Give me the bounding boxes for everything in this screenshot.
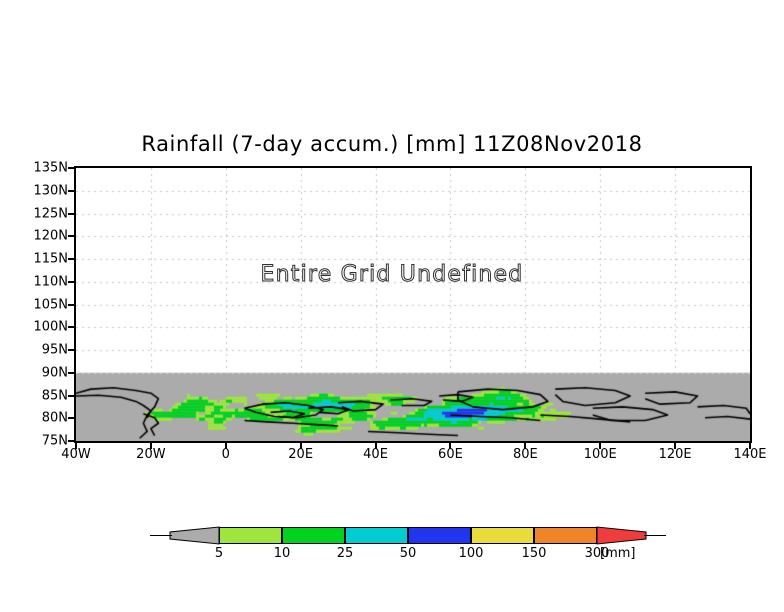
- x-tick-label: 20E: [288, 447, 313, 462]
- x-tickmark: [749, 443, 751, 449]
- y-tick-label: 95N: [42, 343, 68, 358]
- x-tickmark: [75, 443, 77, 449]
- y-tick-label: 125N: [33, 206, 68, 221]
- y-tick-label: 135N: [33, 161, 68, 176]
- y-tickmark: [68, 440, 74, 442]
- y-tick-label: 115N: [33, 252, 68, 267]
- x-tick-label: 20W: [136, 447, 165, 462]
- colorbar-segment: [219, 527, 282, 544]
- x-tickmark: [449, 443, 451, 449]
- x-tick-label: 80E: [513, 447, 538, 462]
- y-tickmark: [68, 417, 74, 419]
- colorbar-tick-label: 150: [522, 546, 547, 561]
- y-tickmark: [68, 167, 74, 169]
- x-tick-label: 60E: [438, 447, 463, 462]
- x-tickmark: [674, 443, 676, 449]
- x-tickmark: [375, 443, 377, 449]
- y-tickmark: [68, 349, 74, 351]
- rainfall-map-canvas: [76, 168, 750, 441]
- y-tick-label: 90N: [42, 365, 68, 380]
- x-tick-label: 100E: [584, 447, 617, 462]
- colorbar-tick-label: 50: [400, 546, 417, 561]
- y-axis-labels: 75N80N85N90N95N100N105N110N115N120N125N1…: [0, 0, 68, 612]
- plot-area: [74, 166, 752, 443]
- y-tick-label: 80N: [42, 411, 68, 426]
- x-tick-label: 40W: [61, 447, 90, 462]
- colorbar-tick-label: 300: [585, 546, 610, 561]
- y-tick-label: 130N: [33, 183, 68, 198]
- x-tickmark: [150, 443, 152, 449]
- chart-page: Rainfall (7-day accum.) [mm] 11Z08Nov201…: [0, 0, 784, 612]
- x-tick-label: 140E: [733, 447, 766, 462]
- y-tickmark: [68, 326, 74, 328]
- colorbar-unit-label: [mm]: [600, 546, 635, 561]
- chart-title: Rainfall (7-day accum.) [mm] 11Z08Nov201…: [0, 132, 784, 156]
- y-tick-label: 85N: [42, 388, 68, 403]
- x-tick-label: 40E: [363, 447, 388, 462]
- x-tickmark: [300, 443, 302, 449]
- x-tick-label: 120E: [659, 447, 692, 462]
- y-tick-label: 100N: [33, 320, 68, 335]
- y-tickmark: [68, 190, 74, 192]
- x-tickmark: [599, 443, 601, 449]
- colorbar-segment: [282, 527, 345, 544]
- y-tickmark: [68, 281, 74, 283]
- x-tick-label: 0: [222, 447, 230, 462]
- x-tickmark: [524, 443, 526, 449]
- colorbar-segment: [345, 527, 408, 544]
- y-tickmark: [68, 395, 74, 397]
- y-tickmark: [68, 213, 74, 215]
- colorbar-tick-label: 100: [459, 546, 484, 561]
- colorbar-segment: [471, 527, 534, 544]
- y-tickmark: [68, 372, 74, 374]
- colorbar-tick-label: 25: [337, 546, 354, 561]
- y-tickmark: [68, 304, 74, 306]
- x-tickmark: [225, 443, 227, 449]
- colorbar-segment: [408, 527, 471, 544]
- y-tick-label: 105N: [33, 297, 68, 312]
- colorbar-segment: [534, 527, 597, 544]
- colorbar-tick-label: 5: [215, 546, 223, 561]
- y-tickmark: [68, 235, 74, 237]
- y-tick-label: 120N: [33, 229, 68, 244]
- colorbar-tick-label: 10: [274, 546, 291, 561]
- y-tickmark: [68, 258, 74, 260]
- y-tick-label: 110N: [33, 274, 68, 289]
